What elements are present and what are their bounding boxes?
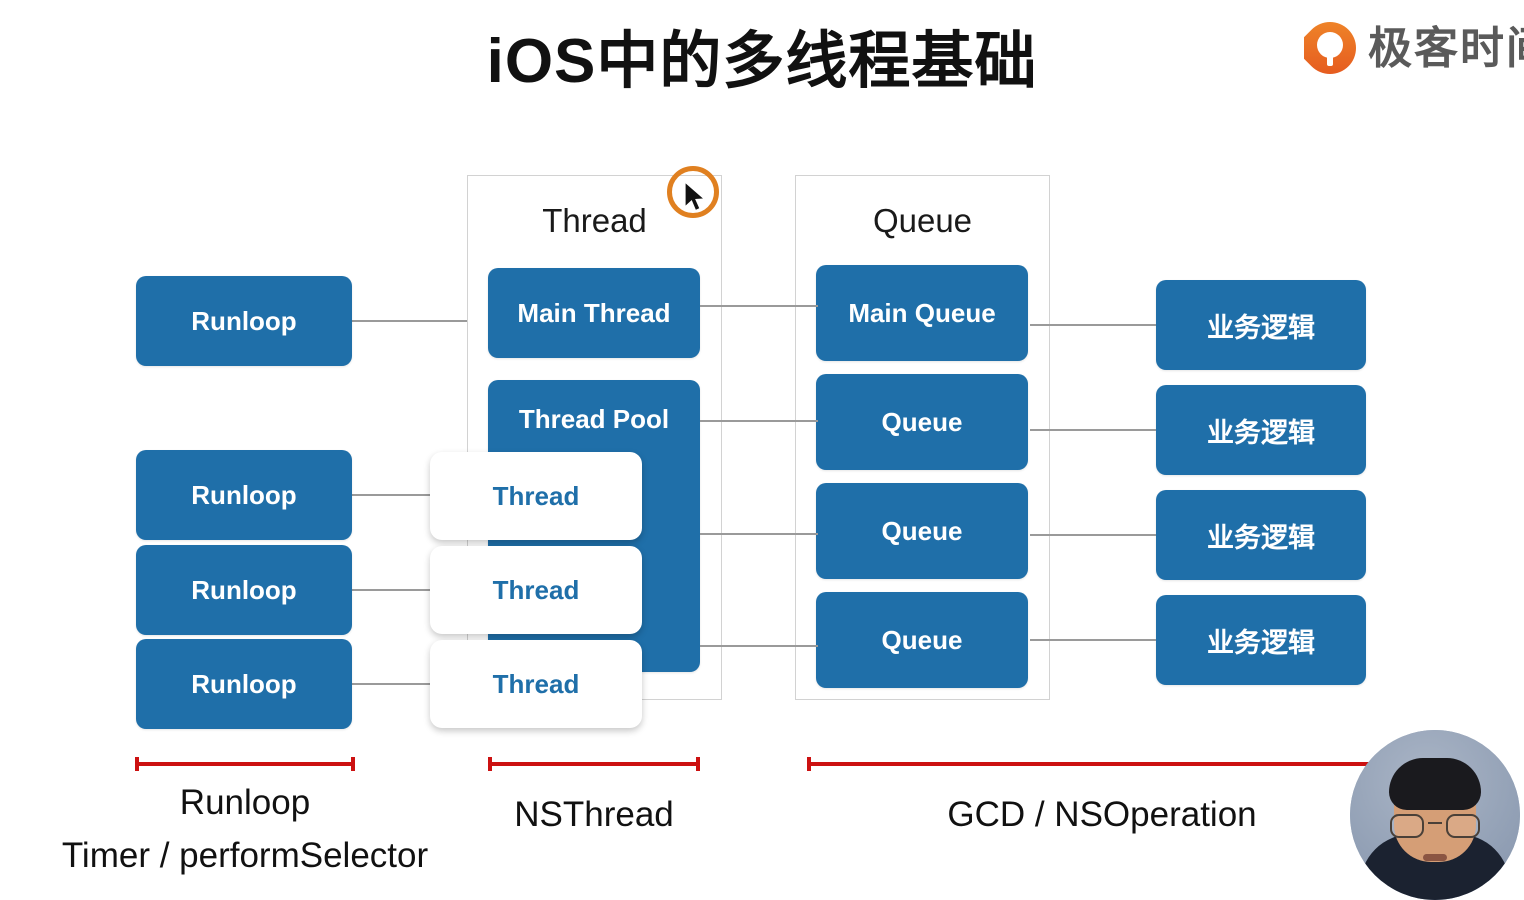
business-logic-box-1[interactable]: 业务逻辑 bbox=[1156, 280, 1366, 370]
main-queue-label: Main Queue bbox=[848, 298, 995, 329]
connector-mainqueue-business1 bbox=[1030, 324, 1156, 326]
caption-nsthread: NSThread bbox=[444, 795, 744, 835]
main-queue-box[interactable]: Main Queue bbox=[816, 265, 1028, 361]
business-logic-box-4-label: 业务逻辑 bbox=[1207, 621, 1315, 660]
thread-card-2-label: Thread bbox=[493, 575, 580, 606]
connector-threadpool-queue2 bbox=[700, 533, 818, 535]
connector-mainthread-mainqueue bbox=[700, 305, 818, 307]
caption-runloop-line1: Runloop bbox=[95, 783, 395, 823]
geektime-drop-logo-icon bbox=[1304, 22, 1356, 76]
connector-threadpool-queue3 bbox=[700, 645, 818, 647]
caption-runloop-line2: Timer / performSelector bbox=[45, 836, 445, 876]
connector-runloop2-thread1 bbox=[352, 494, 432, 496]
page-title: iOS中的多线程基础 bbox=[0, 22, 1524, 102]
slide-canvas: iOS中的多线程基础 极客时间 Runloop Runloop Runloop … bbox=[0, 0, 1524, 900]
bracket-runloop bbox=[135, 757, 355, 771]
queue-box-4-label: Queue bbox=[882, 625, 963, 656]
connector-runloop3-thread2 bbox=[352, 589, 432, 591]
queue-box-2-label: Queue bbox=[882, 407, 963, 438]
thread-card-2[interactable]: Thread bbox=[430, 546, 642, 634]
mouse-pointer-icon bbox=[683, 181, 709, 215]
main-thread-box[interactable]: Main Thread bbox=[488, 268, 700, 358]
runloop-box-3-label: Runloop bbox=[191, 575, 296, 606]
thread-pool-label: Thread Pool bbox=[519, 404, 669, 435]
queue-box-4[interactable]: Queue bbox=[816, 592, 1028, 688]
caption-gcd-nsoperation: GCD / NSOperation bbox=[937, 795, 1267, 835]
runloop-box-2[interactable]: Runloop bbox=[136, 450, 352, 540]
runloop-box-2-label: Runloop bbox=[191, 480, 296, 511]
bracket-nsthread bbox=[488, 757, 700, 771]
thread-card-1[interactable]: Thread bbox=[430, 452, 642, 540]
queue-box-3-label: Queue bbox=[882, 516, 963, 547]
business-logic-box-4[interactable]: 业务逻辑 bbox=[1156, 595, 1366, 685]
runloop-box-1[interactable]: Runloop bbox=[136, 276, 352, 366]
runloop-box-4-label: Runloop bbox=[191, 669, 296, 700]
connector-queue3-business4 bbox=[1030, 639, 1156, 641]
business-logic-box-3[interactable]: 业务逻辑 bbox=[1156, 490, 1366, 580]
connector-queue1-business2 bbox=[1030, 429, 1156, 431]
business-logic-box-2-label: 业务逻辑 bbox=[1207, 411, 1315, 450]
queue-frame-title: Queue bbox=[796, 202, 1049, 240]
connector-runloop4-thread3 bbox=[352, 683, 432, 685]
connector-threadpool-queue1 bbox=[700, 420, 818, 422]
main-thread-label: Main Thread bbox=[517, 298, 670, 329]
presenter-video-overlay[interactable] bbox=[1350, 730, 1520, 900]
brand-logo: 极客时间 bbox=[1304, 18, 1524, 80]
business-logic-box-1-label: 业务逻辑 bbox=[1207, 306, 1315, 345]
connector-queue2-business3 bbox=[1030, 534, 1156, 536]
runloop-box-4[interactable]: Runloop bbox=[136, 639, 352, 729]
runloop-box-1-label: Runloop bbox=[191, 306, 296, 337]
thread-card-1-label: Thread bbox=[493, 481, 580, 512]
brand-name: 极客时间 bbox=[1368, 22, 1524, 76]
thread-card-3-label: Thread bbox=[493, 669, 580, 700]
queue-box-3[interactable]: Queue bbox=[816, 483, 1028, 579]
thread-card-3[interactable]: Thread bbox=[430, 640, 642, 728]
business-logic-box-3-label: 业务逻辑 bbox=[1207, 516, 1315, 555]
business-logic-box-2[interactable]: 业务逻辑 bbox=[1156, 385, 1366, 475]
runloop-box-3[interactable]: Runloop bbox=[136, 545, 352, 635]
queue-box-2[interactable]: Queue bbox=[816, 374, 1028, 470]
